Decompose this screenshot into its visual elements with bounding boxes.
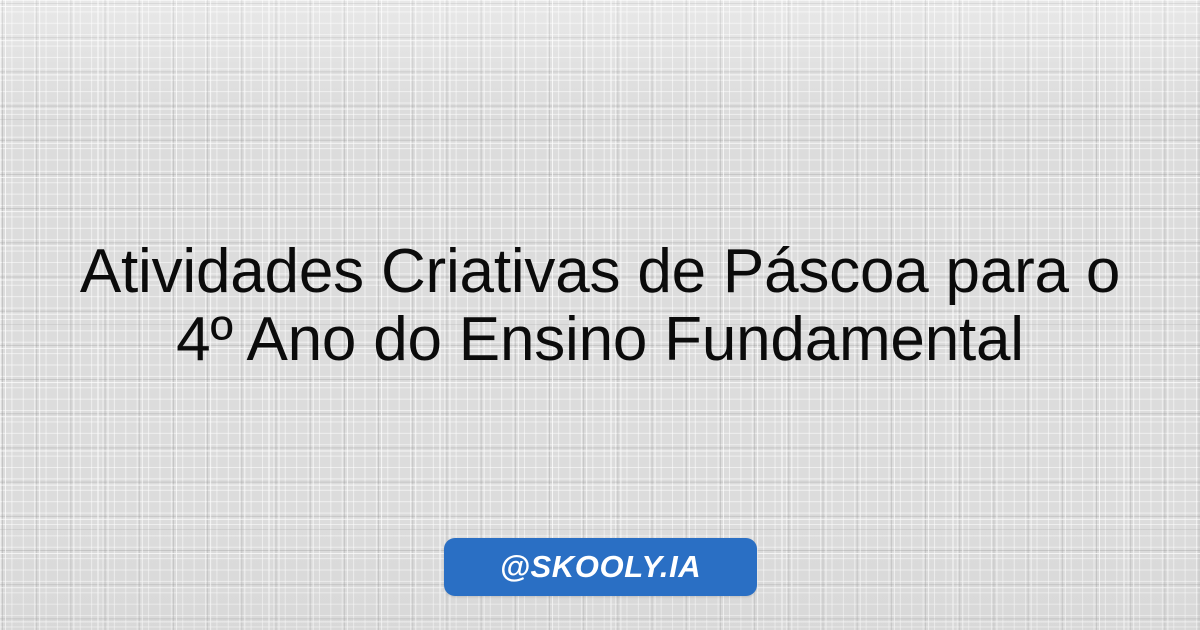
handle-badge-label: @SKOOLY.IA [500, 549, 702, 585]
social-card-canvas: Atividades Criativas de Páscoa para o 4º… [0, 0, 1200, 630]
page-title-line-2: 4º Ano do Ensino Fundamental [18, 306, 1182, 374]
page-title: Atividades Criativas de Páscoa para o 4º… [0, 238, 1200, 374]
page-title-line-1: Atividades Criativas de Páscoa para o [18, 238, 1182, 306]
handle-badge[interactable]: @SKOOLY.IA [444, 538, 757, 596]
